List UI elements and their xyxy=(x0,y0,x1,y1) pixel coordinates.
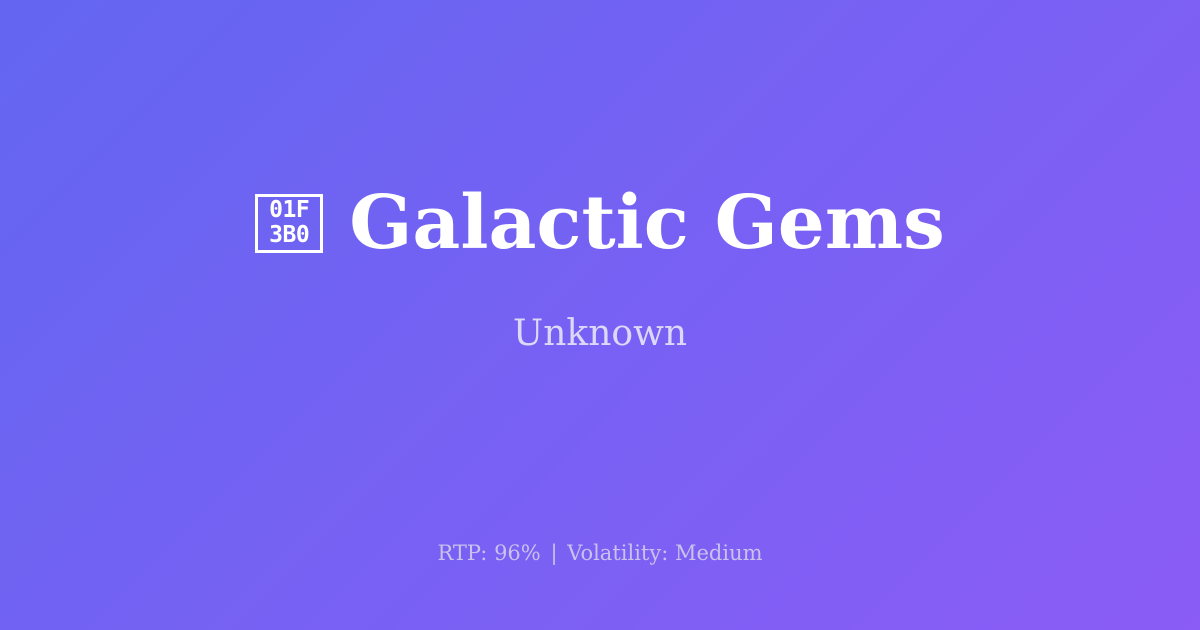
rtp-value: 96% xyxy=(494,541,541,565)
meta-separator: | xyxy=(547,541,560,565)
slot-machine-icon: 01F 3B0 xyxy=(255,194,323,253)
hero-section: 01F 3B0 Galactic Gems Unknown xyxy=(0,0,1200,630)
tofu-hex-top: 01F xyxy=(269,198,309,223)
tofu-hex-bottom: 3B0 xyxy=(269,223,309,248)
page-title: Galactic Gems xyxy=(349,186,945,260)
rtp-label: RTP: xyxy=(437,541,487,565)
game-meta-footer: RTP: 96% | Volatility: Medium xyxy=(0,543,1200,564)
volatility-value: Medium xyxy=(675,541,763,565)
volatility-label: Volatility: xyxy=(567,541,668,565)
game-og-card: 01F 3B0 Galactic Gems Unknown RTP: 96% |… xyxy=(0,0,1200,630)
game-provider-subtitle: Unknown xyxy=(513,316,687,352)
title-row: 01F 3B0 Galactic Gems xyxy=(255,186,945,260)
